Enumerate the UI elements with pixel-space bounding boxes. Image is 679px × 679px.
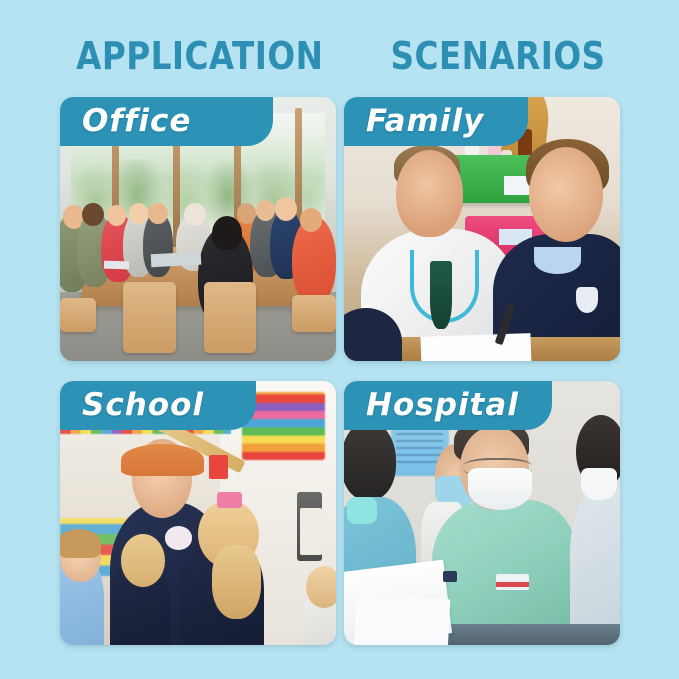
page-title: APPLICATIONSCENARIOS <box>0 34 679 78</box>
card-label-hospital: Hospital <box>366 390 519 421</box>
card-label-family: Family <box>366 106 484 137</box>
card-banner-hospital: Hospital <box>344 381 552 430</box>
title-word-scenarios: SCENARIOS <box>391 34 606 78</box>
scenario-card-hospital[interactable]: Hospital <box>344 381 620 645</box>
title-word-application: APPLICATION <box>76 34 323 78</box>
scenario-card-office[interactable]: Office <box>60 97 336 361</box>
poster-root: APPLICATIONSCENARIOS <box>0 0 679 679</box>
scenario-grid: Office <box>60 97 620 645</box>
scenario-card-family[interactable]: Family <box>344 97 620 361</box>
card-banner-family: Family <box>344 97 528 146</box>
card-label-office: Office <box>82 106 191 137</box>
scenario-card-school[interactable]: School <box>60 381 336 645</box>
card-label-school: School <box>82 390 204 421</box>
card-banner-office: Office <box>60 97 273 146</box>
card-banner-school: School <box>60 381 256 430</box>
